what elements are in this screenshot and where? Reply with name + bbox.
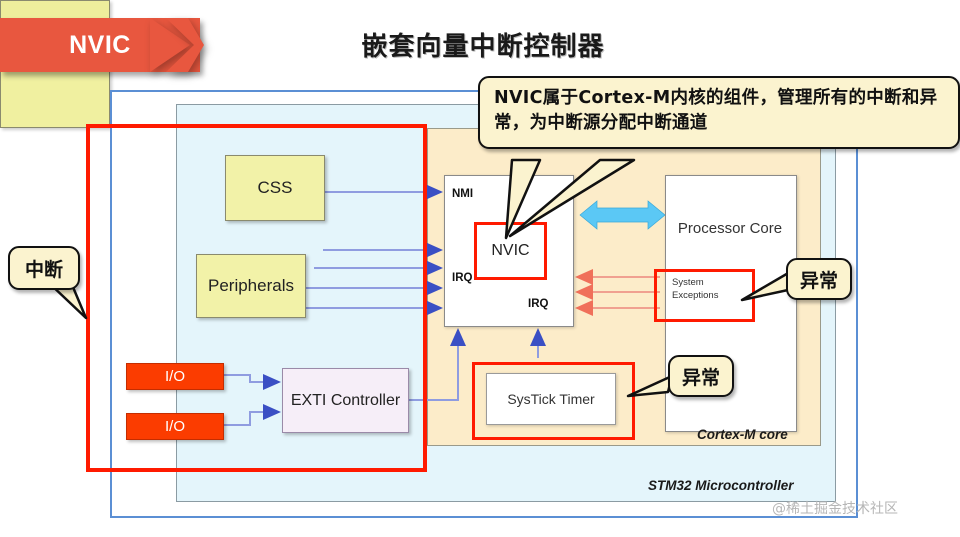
cortex-m-core-label: Cortex-M core [697,427,788,442]
nmi-signal-label: NMI [452,188,473,200]
watermark: @稀土掘金技术社区 [772,498,898,518]
banner-chevron-icon [158,18,204,72]
callout-interrupt: 中断 [8,246,80,290]
page-title: 嵌套向量中断控制器 [318,26,648,63]
processor-core-label: Processor Core [665,220,795,237]
peripherals-stack-mid [0,64,110,128]
irq-signal-label-left: IRQ [452,272,472,284]
systick-label: SysTick Timer [507,391,594,407]
interrupt-sources-highlight [86,124,427,472]
banner-label: NVIC [69,31,131,60]
nvic-label: NVIC [491,242,529,260]
callout-exception-systick: 异常 [668,355,734,397]
stm32-microcontroller-label: STM32 Microcontroller [648,478,794,493]
nvic-block: NVIC [474,222,547,280]
system-exceptions-label: System Exceptions [672,277,752,303]
irq-signal-label-bottom: IRQ [528,298,548,310]
systick-timer-block: SysTick Timer [486,373,616,425]
callout-nvic-description: NVIC属于Cortex-M内核的组件，管理所有的中断和异常，为中断源分配中断通… [478,76,960,149]
callout-exception-system: 异常 [786,258,852,300]
